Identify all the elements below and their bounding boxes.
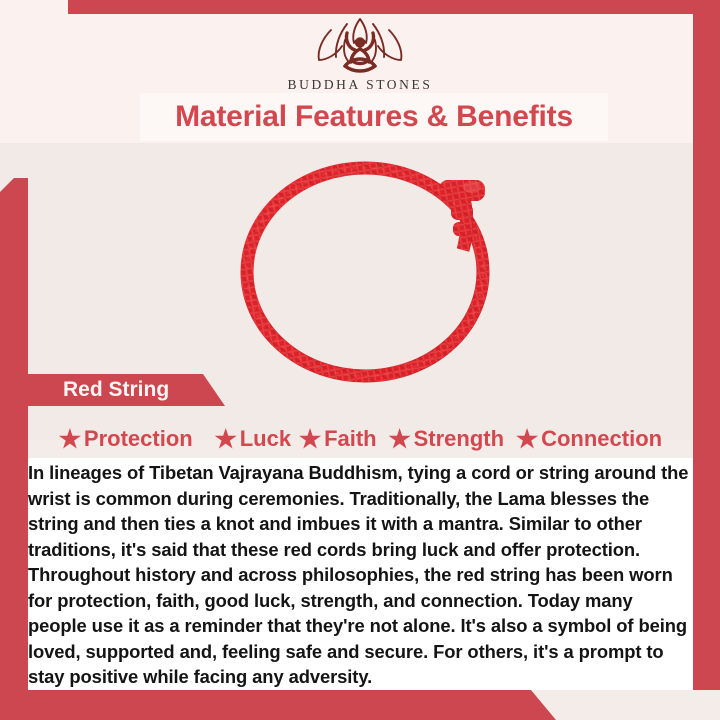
benefit-item-faith: Faith xyxy=(299,426,377,452)
star-icon xyxy=(516,428,538,450)
benefit-label: Faith xyxy=(324,426,377,452)
description-text: In lineages of Tibetan Vajrayana Buddhis… xyxy=(28,460,693,690)
benefit-item-protection: Protection xyxy=(59,426,193,452)
description-panel: In lineages of Tibetan Vajrayana Buddhis… xyxy=(28,458,693,690)
lotus-meditation-icon xyxy=(301,16,419,76)
benefit-item-luck: Luck xyxy=(215,426,291,452)
brand-logo: BUDDHA STONES xyxy=(0,16,720,92)
benefit-label: Strength xyxy=(414,426,504,452)
product-label-banner: Red String xyxy=(0,374,225,406)
product-label: Red String xyxy=(63,378,169,402)
infographic-page: BUDDHA STONES Material Features & Benefi… xyxy=(0,0,720,720)
frame-bar-bottom xyxy=(0,690,556,720)
benefit-item-strength: Strength xyxy=(389,426,504,452)
star-icon xyxy=(389,428,411,450)
frame-strip-top xyxy=(68,0,720,14)
star-icon xyxy=(59,428,81,450)
benefit-label: Luck xyxy=(240,426,291,452)
benefit-label: Connection xyxy=(541,426,662,452)
red-braided-cord-bracelet xyxy=(225,150,515,385)
title-banner: Material Features & Benefits xyxy=(140,93,608,141)
benefit-item-connection: Connection xyxy=(516,426,662,452)
frame-bar-left xyxy=(0,178,28,690)
star-icon xyxy=(299,428,321,450)
frame-bar-right xyxy=(693,0,720,690)
page-title: Material Features & Benefits xyxy=(175,100,573,134)
star-icon xyxy=(215,428,237,450)
benefit-label: Protection xyxy=(84,426,193,452)
brand-name: BUDDHA STONES xyxy=(288,77,433,93)
benefits-row: Protection Luck Faith Strength Connectio… xyxy=(28,420,693,458)
